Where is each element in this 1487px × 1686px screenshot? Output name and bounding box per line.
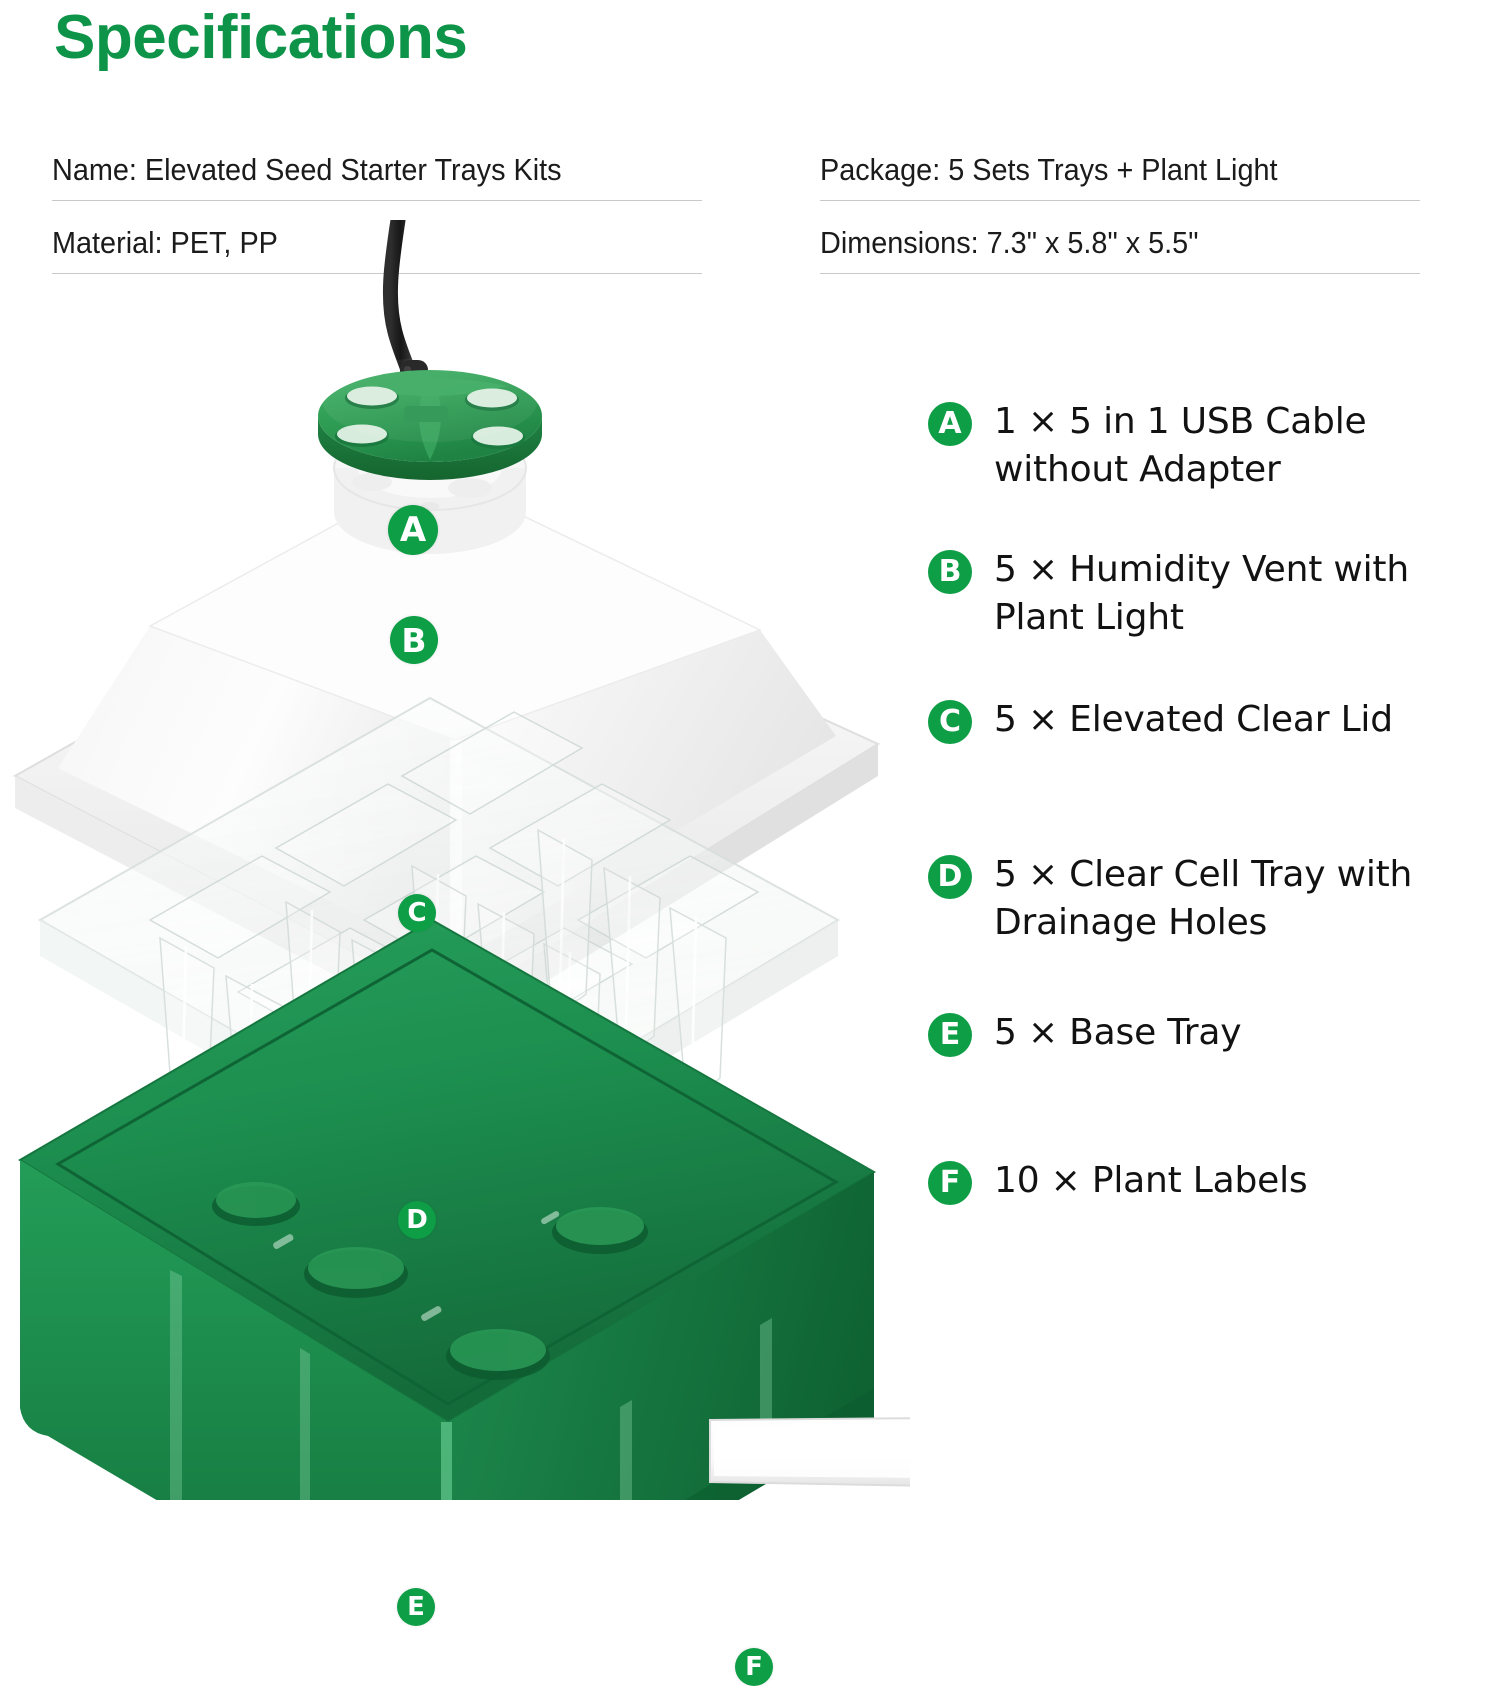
- legend-item-b: B 5 × Humidity Vent with Plant Light: [928, 546, 1487, 696]
- callout-badge-f: F: [735, 1648, 773, 1686]
- spec-column-right: Package: 5 Sets Trays + Plant Light Dime…: [820, 128, 1420, 274]
- spec-row-package: Package: 5 Sets Trays + Plant Light: [820, 128, 1420, 201]
- specifications-page: Specifications Name: Elevated Seed Start…: [0, 0, 1487, 1500]
- humidity-vent-graphic: [318, 358, 542, 480]
- spec-row-dimensions: Dimensions: 7.3" x 5.8" x 5.5": [820, 201, 1420, 274]
- page-title: Specifications: [54, 2, 467, 73]
- legend-badge-c: C: [928, 700, 972, 744]
- callout-badge-c: C: [398, 894, 436, 932]
- callout-badge-d: D: [398, 1201, 436, 1239]
- legend-label-f: 10 × Plant Labels: [994, 1157, 1487, 1205]
- legend-item-e: E 5 × Base Tray: [928, 1009, 1487, 1157]
- legend-badge-d: D: [928, 855, 972, 899]
- legend-item-c: C 5 × Elevated Clear Lid: [928, 696, 1487, 851]
- product-exploded-illustration: A B C D E F: [0, 220, 910, 1500]
- plant-label-graphic: [710, 1418, 910, 1486]
- legend-label-d: 5 × Clear Cell Tray with Drainage Holes: [994, 851, 1487, 947]
- spec-row-name: Name: Elevated Seed Starter Trays Kits: [52, 128, 702, 201]
- callout-badge-a: A: [388, 505, 438, 555]
- legend-item-f: F 10 × Plant Labels: [928, 1157, 1487, 1205]
- legend-item-d: D 5 × Clear Cell Tray with Drainage Hole…: [928, 851, 1487, 1009]
- legend-badge-b: B: [928, 550, 972, 594]
- callout-badge-b: B: [390, 616, 438, 664]
- legend-label-c: 5 × Elevated Clear Lid: [994, 696, 1487, 744]
- parts-legend: A 1 × 5 in 1 USB Cable without Adapter B…: [928, 398, 1487, 1205]
- legend-label-b: 5 × Humidity Vent with Plant Light: [994, 546, 1487, 642]
- legend-badge-f: F: [928, 1161, 972, 1205]
- spec-name-text: Name: Elevated Seed Starter Trays Kits: [52, 152, 562, 188]
- legend-label-e: 5 × Base Tray: [994, 1009, 1487, 1057]
- legend-badge-a: A: [928, 402, 972, 446]
- legend-badge-e: E: [928, 1013, 972, 1057]
- legend-label-a: 1 × 5 in 1 USB Cable without Adapter: [994, 398, 1487, 494]
- callout-badge-e: E: [397, 1588, 435, 1626]
- spec-package-text: Package: 5 Sets Trays + Plant Light: [820, 152, 1278, 188]
- legend-item-a: A 1 × 5 in 1 USB Cable without Adapter: [928, 398, 1487, 546]
